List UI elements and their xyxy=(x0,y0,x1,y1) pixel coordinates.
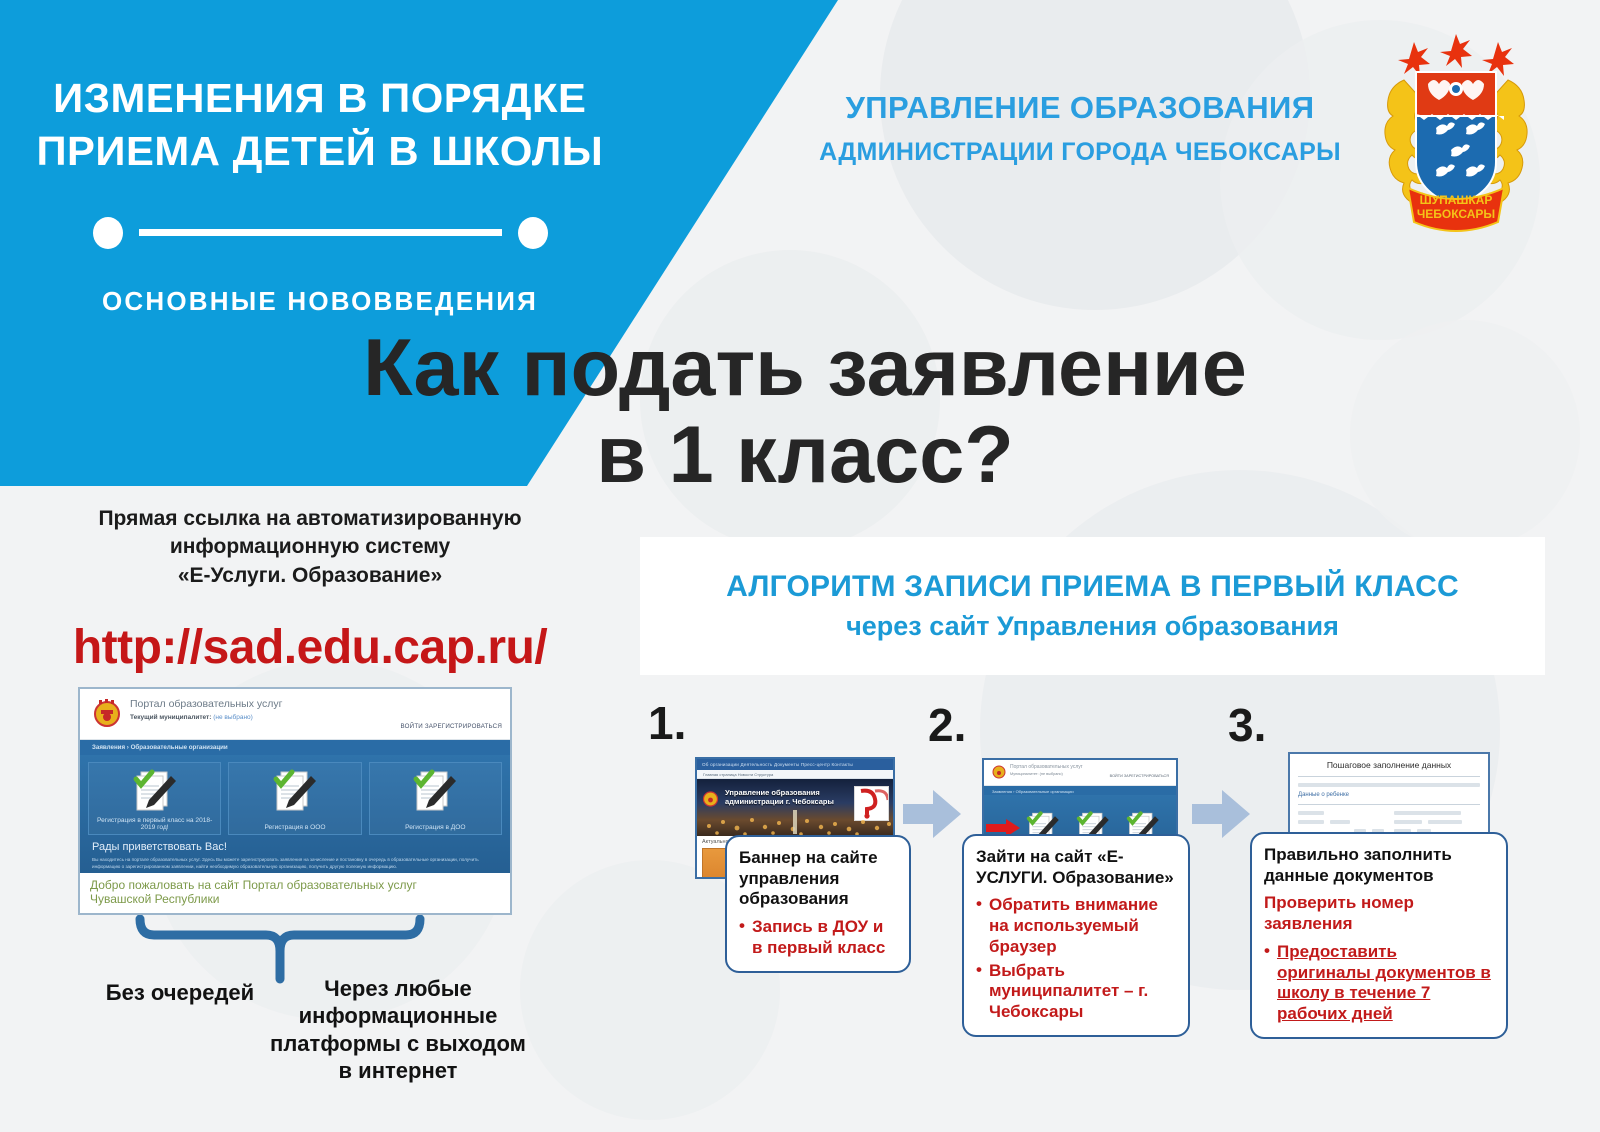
coat-of-arms-text-bottom: ЧЕБОКСАРЫ xyxy=(1417,207,1495,221)
portal-footer-line1: Добро пожаловать на сайт Портал образова… xyxy=(90,878,510,892)
caption-line-3: «Е-Услуги. Образование» xyxy=(20,562,600,590)
step-3-bullet: Предоставить оригиналы документов в школ… xyxy=(1264,942,1494,1025)
direct-link-caption: Прямая ссылка на автоматизированную инфо… xyxy=(20,505,600,590)
document-pen-icon xyxy=(131,768,179,818)
eservices-auth-links[interactable]: ВОЙТИ ЗАРЕГИСТРИРОВАТЬСЯ xyxy=(1110,774,1169,778)
algorithm-subtitle: через сайт Управления образования xyxy=(846,611,1339,642)
portal-tile[interactable]: Регистрация в ДОО xyxy=(369,762,502,835)
header-title: ИЗМЕНЕНИЯ В ПОРЯДКЕ ПРИЕМА ДЕТЕЙ В ШКОЛЫ xyxy=(37,72,604,179)
page-title-line2: в 1 класс? xyxy=(300,412,1310,499)
divider-dot-left xyxy=(93,217,123,249)
eservices-breadcrumb: Заявления › Образовательные организации xyxy=(984,786,1176,795)
eservices-municipality: Муниципалитет: (не выбрано) xyxy=(1010,772,1063,776)
portal-tiles: Регистрация в первый класс на 2018-2019 … xyxy=(88,762,502,835)
step-3-number: 3. xyxy=(1228,702,1266,748)
organization-subtitle: АДМИНИСТРАЦИИ ГОРОДА ЧЕБОКСАРЫ xyxy=(790,138,1370,167)
algorithm-banner: АЛГОРИТМ ЗАПИСИ ПРИЕМА В ПЕРВЫЙ КЛАСС че… xyxy=(640,537,1545,675)
portal-footer-line2: Чувашской Республики xyxy=(90,892,510,906)
portal-tile-label: Регистрация в ДОО xyxy=(372,824,499,832)
portal-tile[interactable]: Регистрация в ООО xyxy=(228,762,361,835)
document-pen-icon xyxy=(271,768,319,818)
step-2-bullet: Обратить внимание на используемый браузе… xyxy=(976,895,1176,957)
header-title-line1: ИЗМЕНЕНИЯ В ПОРЯДКЕ xyxy=(37,72,604,125)
arrow-right-icon xyxy=(1192,790,1250,838)
step-2-number: 2. xyxy=(928,702,966,748)
step-3-callout: Правильно заполнить данные документов Пр… xyxy=(1250,832,1508,1039)
form-title: Пошаговое заполнение данных xyxy=(1298,760,1480,770)
divider-line xyxy=(139,229,502,236)
header-divider xyxy=(93,217,548,249)
step-1-heading: Баннер на сайте управления образования xyxy=(739,848,897,910)
portal-screenshot-thumbnail[interactable]: Портал образовательных услуг Текущий мун… xyxy=(78,687,512,915)
document-pen-icon xyxy=(411,768,459,818)
portal-body: Регистрация в первый класс на 2018-2019 … xyxy=(80,755,510,873)
step-3-check-note: Проверить номер заявления xyxy=(1264,893,1494,934)
benefit-no-queue: Без очередей xyxy=(70,980,290,1006)
portal-header: Портал образовательных услуг Текущий мун… xyxy=(80,689,510,740)
divider-dot-right xyxy=(518,217,548,249)
coat-of-arms-text-top: ШУПАШКАР xyxy=(1420,193,1493,207)
site-nav-items: Об организации Деятельность Документы Пр… xyxy=(697,759,893,767)
city-lights-decoration xyxy=(697,806,893,836)
site-hero-title: Управление образования администрации г. … xyxy=(725,788,834,807)
form-section-label: Данные о ребенке xyxy=(1298,792,1480,798)
organization-block: УПРАВЛЕНИЕ ОБРАЗОВАНИЯ АДМИНИСТРАЦИИ ГОР… xyxy=(790,90,1370,167)
organization-name: УПРАВЛЕНИЕ ОБРАЗОВАНИЯ xyxy=(790,90,1370,126)
municipality-value: (не выбрано) xyxy=(213,714,253,721)
portal-tile-label: Регистрация в первый класс на 2018-2019 … xyxy=(91,817,218,832)
coat-of-arms-icon: ШУПАШКАР ЧЕБОКСАРЫ xyxy=(1368,28,1544,233)
portal-title: Портал образовательных услуг xyxy=(130,698,282,710)
benefit-any-platform: Через любые информационные платформы с в… xyxy=(268,975,528,1084)
form-divider xyxy=(1298,776,1480,777)
step-1-bullets: Запись в ДОУ и в первый класс xyxy=(739,917,897,958)
portal-municipality: Текущий муниципалитет: (не выбрано) xyxy=(130,714,253,721)
page-title-line1: Как подать заявление xyxy=(363,323,1247,413)
step-1-callout: Баннер на сайте управления образования З… xyxy=(725,835,911,973)
header-subtitle: ОСНОВНЫЕ НОВОВВЕДЕНИЯ xyxy=(102,286,538,317)
step-2-bullet: Выбрать муниципалитет – г. Чебоксары xyxy=(976,961,1176,1023)
header-title-line2: ПРИЕМА ДЕТЕЙ В ШКОЛЫ xyxy=(37,125,604,178)
portal-welcome: Рады приветствовать Вас! xyxy=(92,841,502,853)
portal-url-link[interactable]: http://sad.edu.cap.ru/ xyxy=(20,620,600,675)
portal-breadcrumb: Заявления › Образовательные организации xyxy=(80,740,510,755)
background-blob xyxy=(1350,320,1580,550)
eservices-title: Портал образовательных услуг xyxy=(1010,764,1083,770)
arrow-right-icon xyxy=(903,790,961,838)
caption-line-1: Прямая ссылка на автоматизированную xyxy=(20,505,600,533)
form-progress-bar xyxy=(1298,783,1480,787)
site-hero-banner: Управление образования администрации г. … xyxy=(697,779,893,836)
site-subnav-items: Главная страница Новости Структура xyxy=(697,770,893,777)
step-3-bullets: Предоставить оригиналы документов в школ… xyxy=(1264,942,1494,1025)
hero-line-1: Управление образования xyxy=(725,788,834,797)
eservices-breadcrumb-text: Заявления › Образовательные организации xyxy=(984,786,1176,794)
infographic-page: ИЗМЕНЕНИЯ В ПОРЯДКЕ ПРИЕМА ДЕТЕЙ В ШКОЛЫ… xyxy=(0,0,1600,1132)
eservices-header: Портал образовательных услуг Муниципалит… xyxy=(984,760,1176,786)
chuvashia-emblem-icon xyxy=(702,789,719,807)
site-subnav: Главная страница Новости Структура xyxy=(697,770,893,779)
step-3-heading: Правильно заполнить данные документов xyxy=(1264,845,1494,886)
portal-auth-links[interactable]: ВОЙТИ ЗАРЕГИСТРИРОВАТЬСЯ xyxy=(401,723,502,730)
page-title: Как подать заявление в 1 класс? xyxy=(300,325,1310,498)
chuvashia-emblem-icon xyxy=(92,696,122,728)
portal-footer: Добро пожаловать на сайт Портал образова… xyxy=(80,873,510,913)
step-1-number: 1. xyxy=(648,700,686,746)
site-navbar: Об организации Деятельность Документы Пр… xyxy=(697,759,893,770)
portal-paragraph: Вы находитесь на портале образовательных… xyxy=(92,857,498,871)
municipality-label: Текущий муниципалитет: xyxy=(130,714,211,721)
step-2-callout: Зайти на сайт «Е-УСЛУГИ. Образование» Об… xyxy=(962,834,1190,1037)
step-2-bullets: Обратить внимание на используемый браузе… xyxy=(976,895,1176,1022)
form-divider xyxy=(1298,804,1480,805)
step-2-heading: Зайти на сайт «Е-УСЛУГИ. Образование» xyxy=(976,847,1176,888)
algorithm-title: АЛГОРИТМ ЗАПИСИ ПРИЕМА В ПЕРВЫЙ КЛАСС xyxy=(726,570,1459,604)
portal-tile-label: Регистрация в ООО xyxy=(231,824,358,832)
step-1-bullet: Запись в ДОУ и в первый класс xyxy=(739,917,897,958)
caption-line-2: информационную систему xyxy=(20,533,600,561)
chuvashia-emblem-icon xyxy=(992,764,1006,779)
portal-tile[interactable]: Регистрация в первый класс на 2018-2019 … xyxy=(88,762,221,835)
